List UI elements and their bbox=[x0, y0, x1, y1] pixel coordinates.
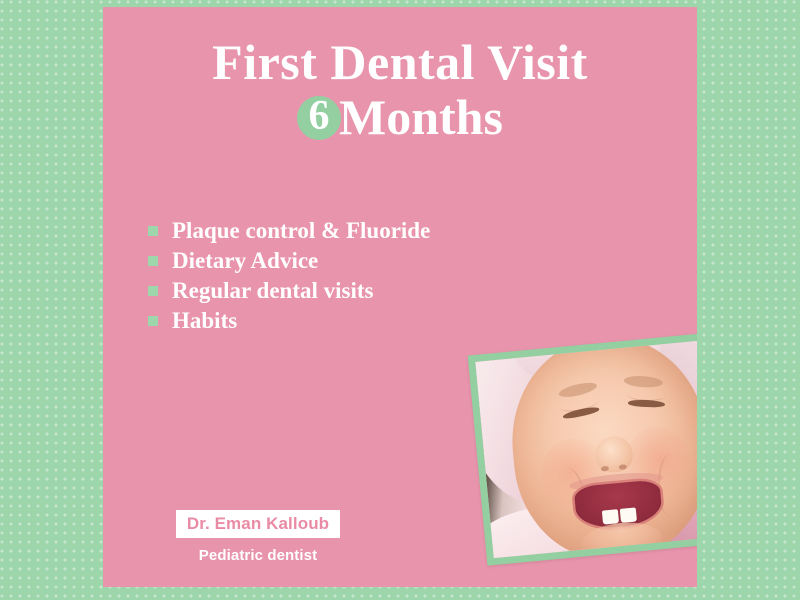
square-bullet-icon bbox=[148, 316, 158, 326]
list-item: Habits bbox=[148, 309, 668, 331]
list-item: Dietary Advice bbox=[148, 249, 668, 271]
page-title: First Dental Visit bbox=[103, 37, 697, 88]
pink-content-card: First Dental Visit 6 Months Plaque contr… bbox=[103, 7, 697, 587]
author-role-label: Pediatric dentist bbox=[143, 547, 373, 564]
list-item-label: Habits bbox=[172, 309, 237, 332]
heading-block: First Dental Visit 6 Months bbox=[103, 37, 697, 143]
baby-photo bbox=[475, 339, 697, 558]
baby-photo-frame bbox=[468, 331, 697, 565]
list-item: Plaque control & Fluoride bbox=[148, 219, 668, 241]
slide-canvas: First Dental Visit 6 Months Plaque contr… bbox=[0, 0, 800, 600]
square-bullet-icon bbox=[148, 256, 158, 266]
list-item-label: Dietary Advice bbox=[172, 249, 318, 272]
list-item: Regular dental visits bbox=[148, 279, 668, 301]
square-bullet-icon bbox=[148, 226, 158, 236]
author-block: Dr. Eman Kalloub Pediatric dentist bbox=[143, 510, 373, 564]
subtitle-line: 6 Months bbox=[103, 92, 697, 143]
square-bullet-icon bbox=[148, 286, 158, 296]
topics-list: Plaque control & Fluoride Dietary Advice… bbox=[148, 219, 668, 339]
list-item-label: Regular dental visits bbox=[172, 279, 373, 302]
age-number-badge: 6 bbox=[297, 96, 341, 140]
age-unit-label: Months bbox=[339, 92, 503, 143]
list-item-label: Plaque control & Fluoride bbox=[172, 219, 430, 242]
author-name-badge: Dr. Eman Kalloub bbox=[176, 510, 340, 538]
